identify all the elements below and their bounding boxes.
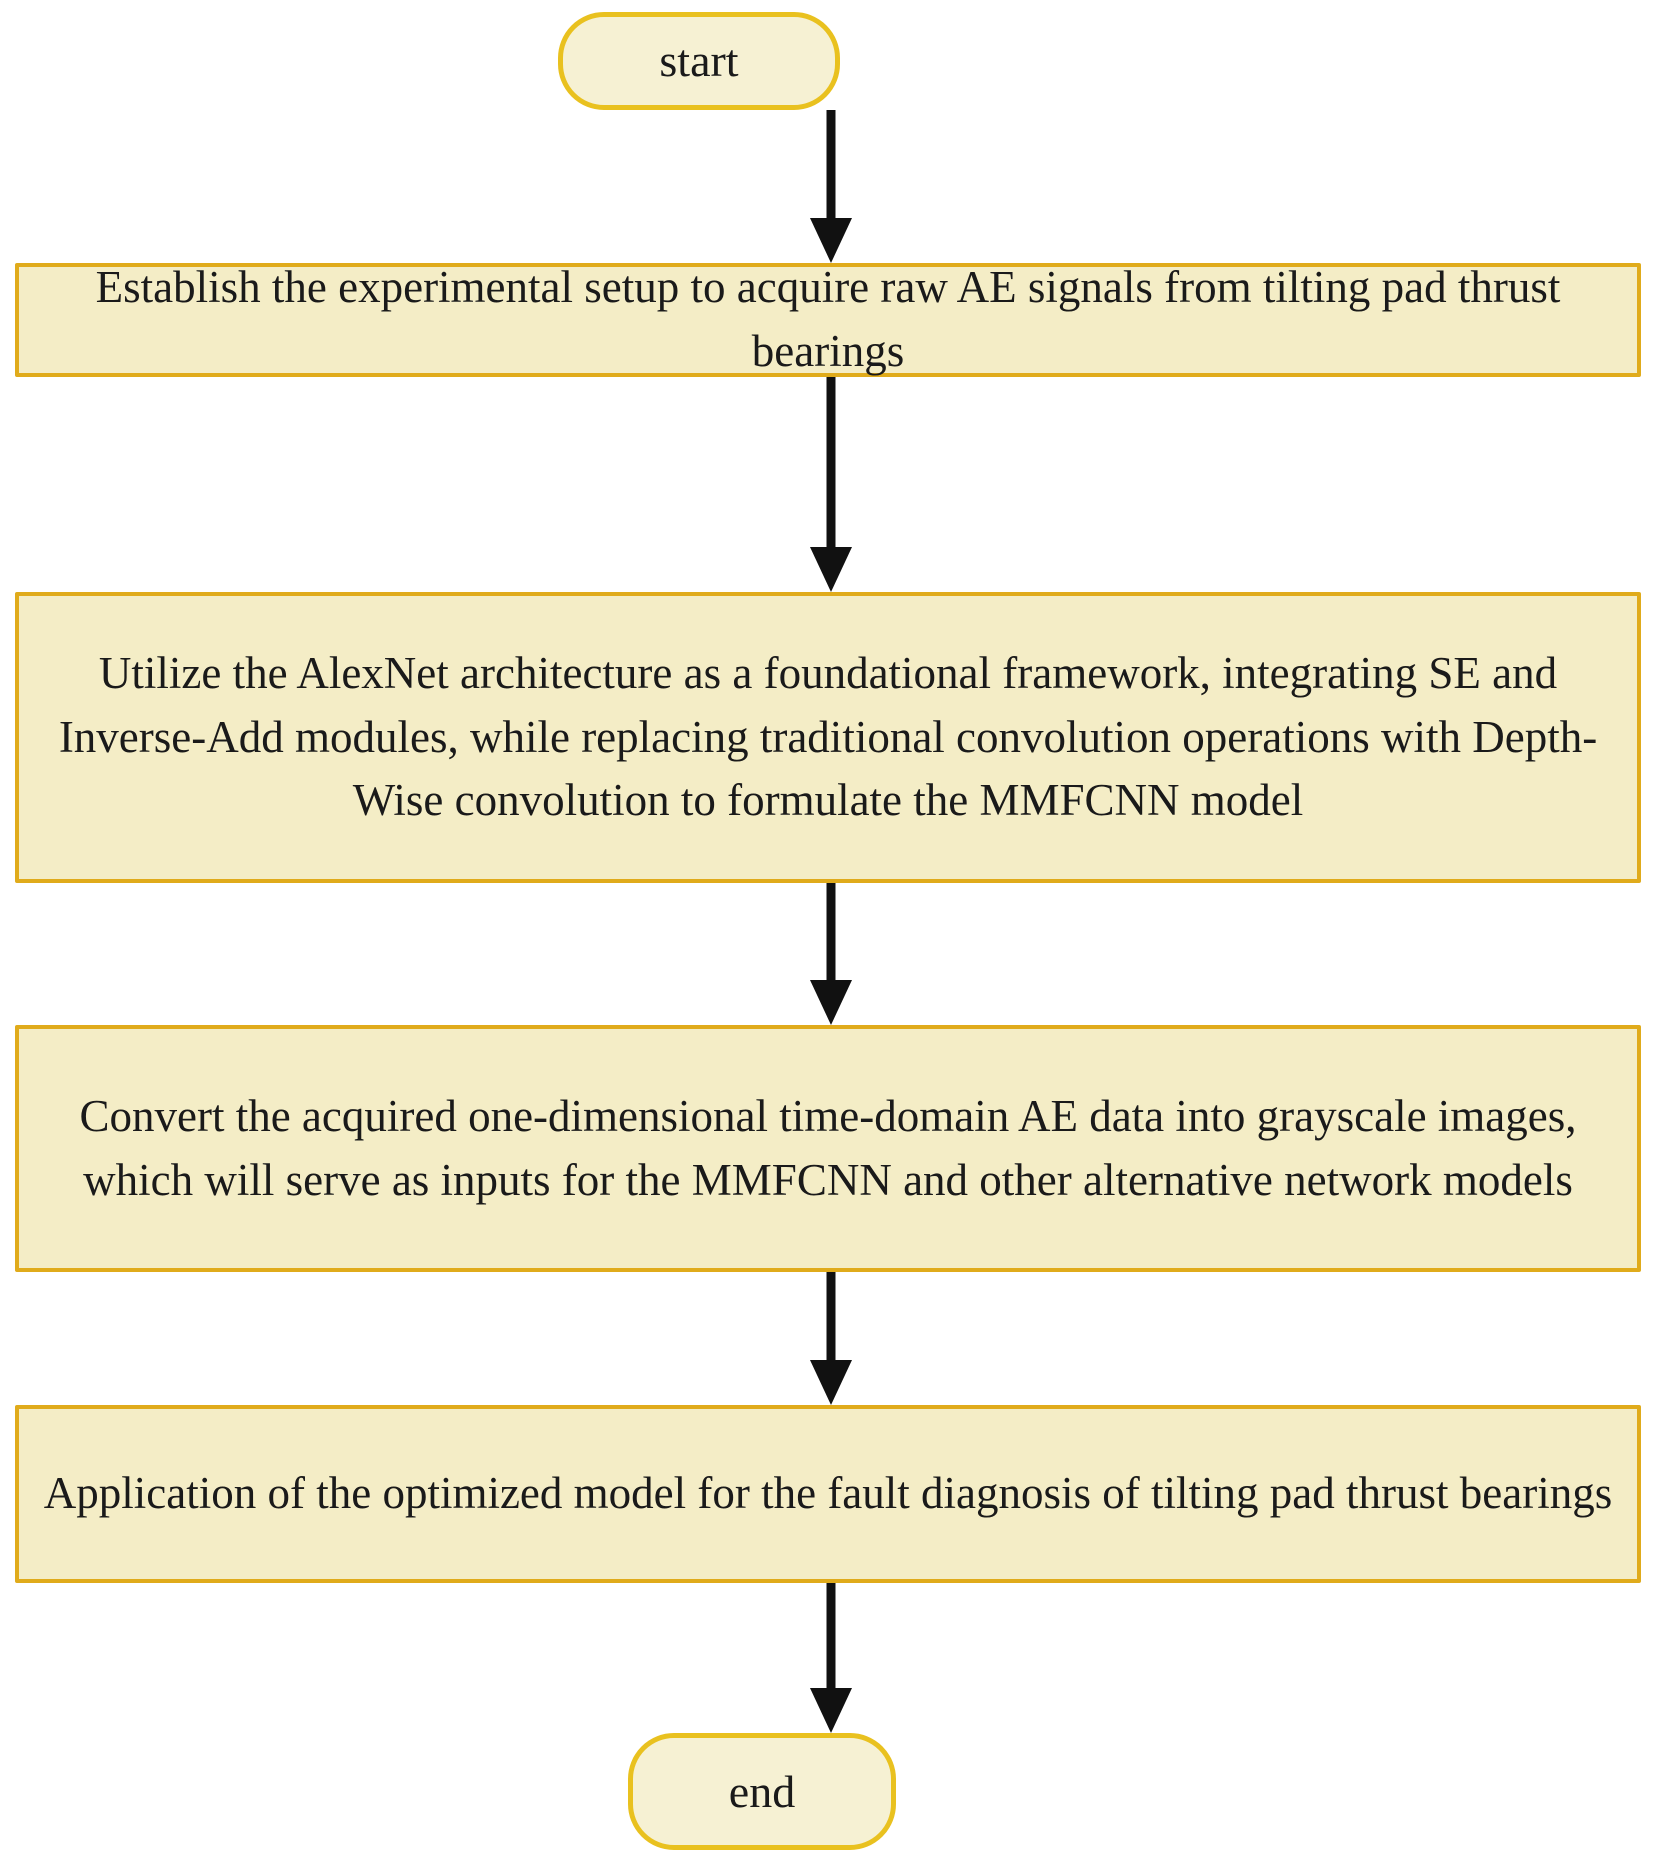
flow-node-step1[interactable]: Establish the experimental setup to acqu… bbox=[15, 263, 1641, 377]
edge-step2-to-step3 bbox=[810, 883, 852, 1025]
edge-start-to-step1 bbox=[810, 110, 852, 263]
flow-node-step1-label: Establish the experimental setup to acqu… bbox=[19, 256, 1637, 384]
flow-node-start[interactable]: start bbox=[558, 12, 840, 110]
edge-step3-to-step4 bbox=[810, 1272, 852, 1405]
flow-node-step4-label: Application of the optimized model for t… bbox=[26, 1462, 1630, 1526]
flow-node-step3-label: Convert the acquired one-dimensional tim… bbox=[19, 1085, 1637, 1213]
flow-node-end[interactable]: end bbox=[628, 1733, 896, 1850]
flowchart-canvas: start Establish the experimental setup t… bbox=[0, 0, 1657, 1866]
flow-node-end-label: end bbox=[711, 1759, 813, 1824]
edge-step4-to-end bbox=[810, 1583, 852, 1733]
flow-node-step3[interactable]: Convert the acquired one-dimensional tim… bbox=[15, 1025, 1641, 1272]
flow-node-step4[interactable]: Application of the optimized model for t… bbox=[15, 1405, 1641, 1583]
flow-node-step2-label: Utilize the AlexNet architecture as a fo… bbox=[19, 642, 1637, 834]
flow-node-start-label: start bbox=[641, 28, 756, 93]
flow-node-step2[interactable]: Utilize the AlexNet architecture as a fo… bbox=[15, 592, 1641, 883]
edge-step1-to-step2 bbox=[810, 377, 852, 592]
